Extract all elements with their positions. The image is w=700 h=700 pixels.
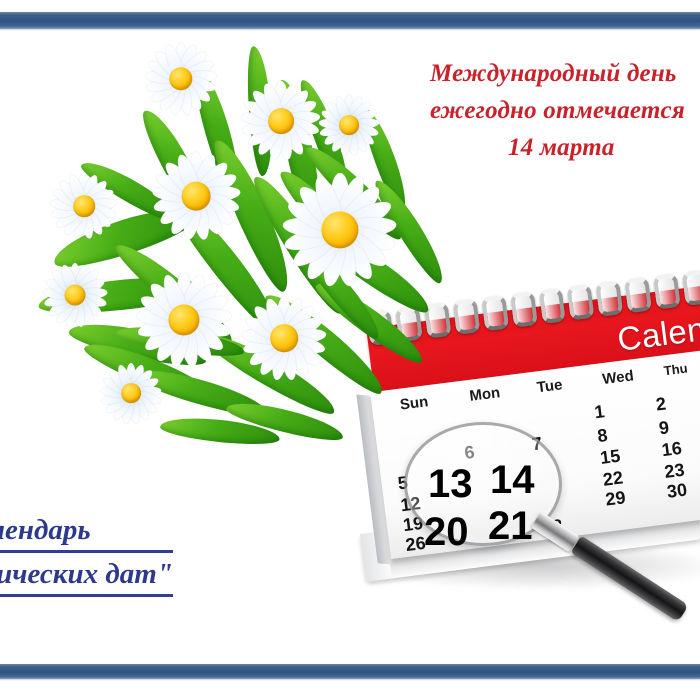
headline-line-3: 14 марта	[430, 129, 700, 166]
magnified-date-14: 14	[490, 458, 535, 503]
bottom-divider	[0, 664, 700, 679]
calendar-day-header-tue: Tue	[536, 376, 563, 396]
spiral-ring	[538, 287, 566, 324]
daisy-flower	[142, 40, 220, 118]
magnified-date-13: 13	[428, 462, 473, 507]
spiral-ring	[567, 284, 595, 321]
magnified-date-21: 21	[488, 504, 533, 549]
daisy-flower	[40, 260, 110, 330]
daisy-center	[65, 285, 86, 306]
spiral-ring	[510, 291, 538, 328]
calendar-day-header-thu: Thu	[663, 360, 689, 378]
headline-text: Международный день ежегодно отмечается 1…	[430, 55, 700, 166]
blue-title-line-1: Календарь	[0, 512, 173, 553]
daisy-center	[268, 108, 294, 134]
daisy-flower	[238, 292, 330, 384]
calendar-title: Calendar	[615, 304, 700, 359]
magnified-date-20: 20	[424, 510, 469, 555]
calendar-day-header-wed: Wed	[601, 367, 634, 388]
daisy-center	[270, 324, 298, 352]
blue-title-line-2: логических дат"	[0, 556, 173, 597]
calendar-day-header-sun: Sun	[399, 393, 429, 413]
spiral-ring	[481, 295, 509, 332]
daisy-center	[182, 182, 211, 211]
daisy-flower	[148, 148, 244, 244]
top-divider	[0, 12, 700, 29]
daisy-flower	[278, 168, 402, 292]
daisy-center	[121, 383, 141, 403]
spiral-ring	[452, 298, 480, 335]
spiral-ring	[624, 277, 652, 314]
calendar-day-header-mon: Mon	[468, 384, 501, 405]
daisy-flower	[238, 78, 324, 164]
headline-line-2: ежегодно отмечается	[430, 92, 700, 129]
daisy-flower	[132, 268, 236, 372]
blue-title: Календарь логических дат"	[0, 512, 173, 597]
daisy-flower	[48, 170, 120, 242]
magnifier-handle	[571, 536, 689, 622]
spiral-ring	[596, 280, 624, 317]
spiral-ring	[653, 273, 681, 310]
headline-line-1: Международный день	[430, 55, 700, 92]
calendar-date-2: 2	[655, 393, 668, 415]
slide-canvas: Международный день ежегодно отмечается 1…	[0, 0, 700, 700]
calendar-date-1: 1	[593, 401, 606, 423]
daisy-flower	[316, 92, 382, 158]
daisy-center	[339, 115, 359, 135]
magnifying-glass-icon: 13 14 20 21	[404, 422, 700, 622]
daisy-center	[73, 195, 95, 217]
magnifier-ferrule	[531, 512, 580, 553]
